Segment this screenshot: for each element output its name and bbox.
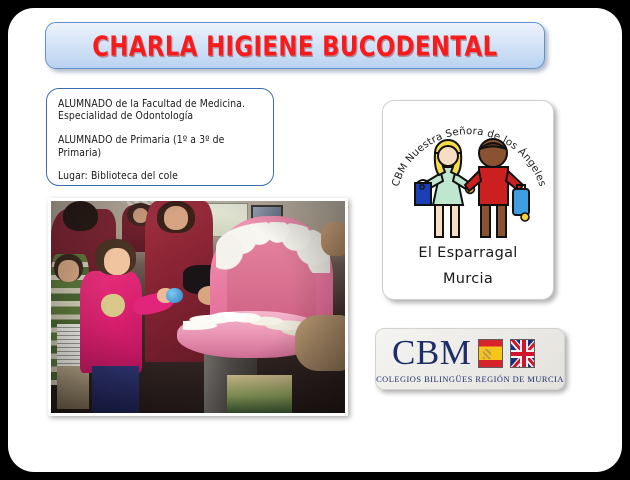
slide-outer-frame: CHARLA HIGIENE BUCODENTAL ALUMNADO de la… [0, 0, 630, 480]
cbm-wordmark: CBM [392, 335, 471, 371]
cbm-brand-card: CBM COLEGIOS BILINGÜES REGIÓN DE MURCIA [375, 328, 565, 390]
slide-canvas: CHARLA HIGIENE BUCODENTAL ALUMNADO de la… [8, 8, 622, 472]
girl-figure [415, 140, 474, 237]
united-kingdom-flag-icon [510, 339, 535, 368]
info-line: Especialidad de Odontología [58, 110, 263, 124]
info-line: Lugar: Biblioteca del cole [58, 170, 263, 184]
info-block-location: Lugar: Biblioteca del cole [58, 170, 263, 182]
spain-coat-of-arms [483, 349, 491, 359]
info-text-box: ALUMNADO de la Facultad de Medicina. Esp… [46, 88, 274, 186]
info-block-audience-university: ALUMNADO de la Facultad de Medicina. Esp… [58, 98, 263, 123]
info-line: ALUMNADO de Primaria (1º a 3º de Primari… [58, 134, 263, 161]
event-photo-frame [48, 198, 348, 416]
page-title: CHARLA HIGIENE BUCODENTAL [92, 29, 497, 62]
title-banner: CHARLA HIGIENE BUCODENTAL [45, 22, 545, 69]
info-block-audience-primary: ALUMNADO de Primaria (1º a 3º de Primari… [58, 134, 263, 159]
school-logo-card: CBM Nuestra Señora de los Ángeles [382, 100, 554, 300]
cbm-tagline: COLEGIOS BILINGÜES REGIÓN DE MURCIA [376, 375, 564, 384]
cbm-brand-row: CBM [392, 335, 535, 371]
photo-vignette-overlay [51, 201, 345, 413]
spain-flag-icon [478, 339, 503, 368]
event-photo [51, 201, 345, 413]
two-children-icon [413, 137, 531, 241]
school-name-label: El Esparragal [383, 245, 553, 261]
school-city-label: Murcia [383, 271, 553, 287]
